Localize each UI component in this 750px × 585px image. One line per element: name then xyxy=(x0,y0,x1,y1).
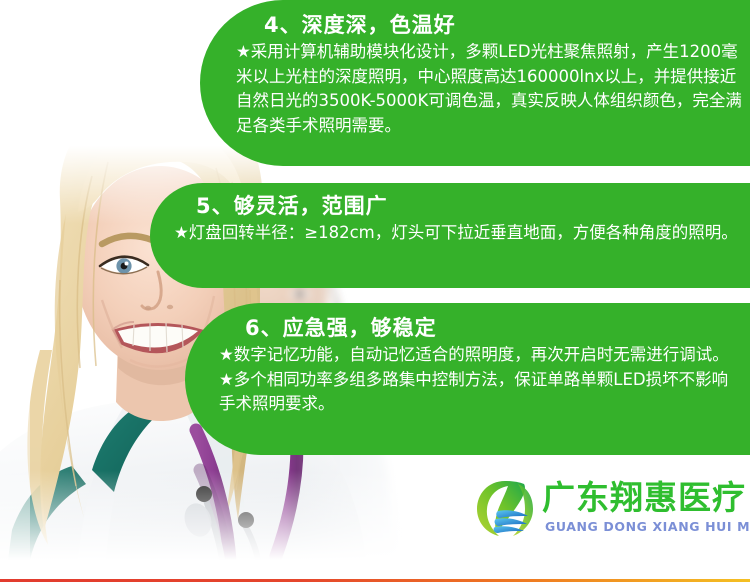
callout-title: 4、深度深，色温好 xyxy=(264,10,742,40)
callout-body: ★灯盘回转半径：≥182cm，灯头可下拉近垂直地面，方便各种角度的照明。 xyxy=(174,221,740,246)
callout-box-5: 5、够灵活，范围广 ★灯盘回转半径：≥182cm，灯头可下拉近垂直地面，方便各种… xyxy=(150,183,750,288)
callout-body: ★数字记忆功能，自动记忆适合的照明度，再次开启时无需进行调试。 ★多个相同功率多… xyxy=(219,343,740,417)
product-feature-banner: 4、深度深，色温好 ★采用计算机辅助模块化设计，多颗LED光柱聚焦照射，产生12… xyxy=(0,0,750,585)
callout-title: 6、应急强，够稳定 xyxy=(245,313,740,343)
callout-line: ★采用计算机辅助模块化设计，多颗LED光柱聚焦照射，产生1200毫米以上光柱的深… xyxy=(236,40,742,138)
callout-box-4: 4、深度深，色温好 ★采用计算机辅助模块化设计，多颗LED光柱聚焦照射，产生12… xyxy=(200,0,750,166)
logo-english-name: GUANG DONG XIANG HUI MEDLCAL xyxy=(545,519,750,534)
callout-box-6: 6、应急强，够稳定 ★数字记忆功能，自动记忆适合的照明度，再次开启时无需进行调试… xyxy=(185,303,750,455)
company-logo: 广东翔惠医疗 GUANG DONG XIANG HUI MEDLCAL xyxy=(470,476,742,546)
logo-chinese-name: 广东翔惠医疗 xyxy=(542,477,746,519)
leaf-wave-logo-icon xyxy=(474,478,536,540)
bottom-gradient-rule xyxy=(0,579,750,582)
callout-line: ★灯盘回转半径：≥182cm，灯头可下拉近垂直地面，方便各种角度的照明。 xyxy=(174,221,740,246)
callout-body: ★采用计算机辅助模块化设计，多颗LED光柱聚焦照射，产生1200毫米以上光柱的深… xyxy=(236,40,742,138)
callout-title: 5、够灵活，范围广 xyxy=(196,191,740,221)
callout-line: ★多个相同功率多组多路集中控制方法，保证单路单颗LED损坏不影响手术照明要求。 xyxy=(219,368,740,417)
callout-line: ★数字记忆功能，自动记忆适合的照明度，再次开启时无需进行调试。 xyxy=(219,343,740,368)
